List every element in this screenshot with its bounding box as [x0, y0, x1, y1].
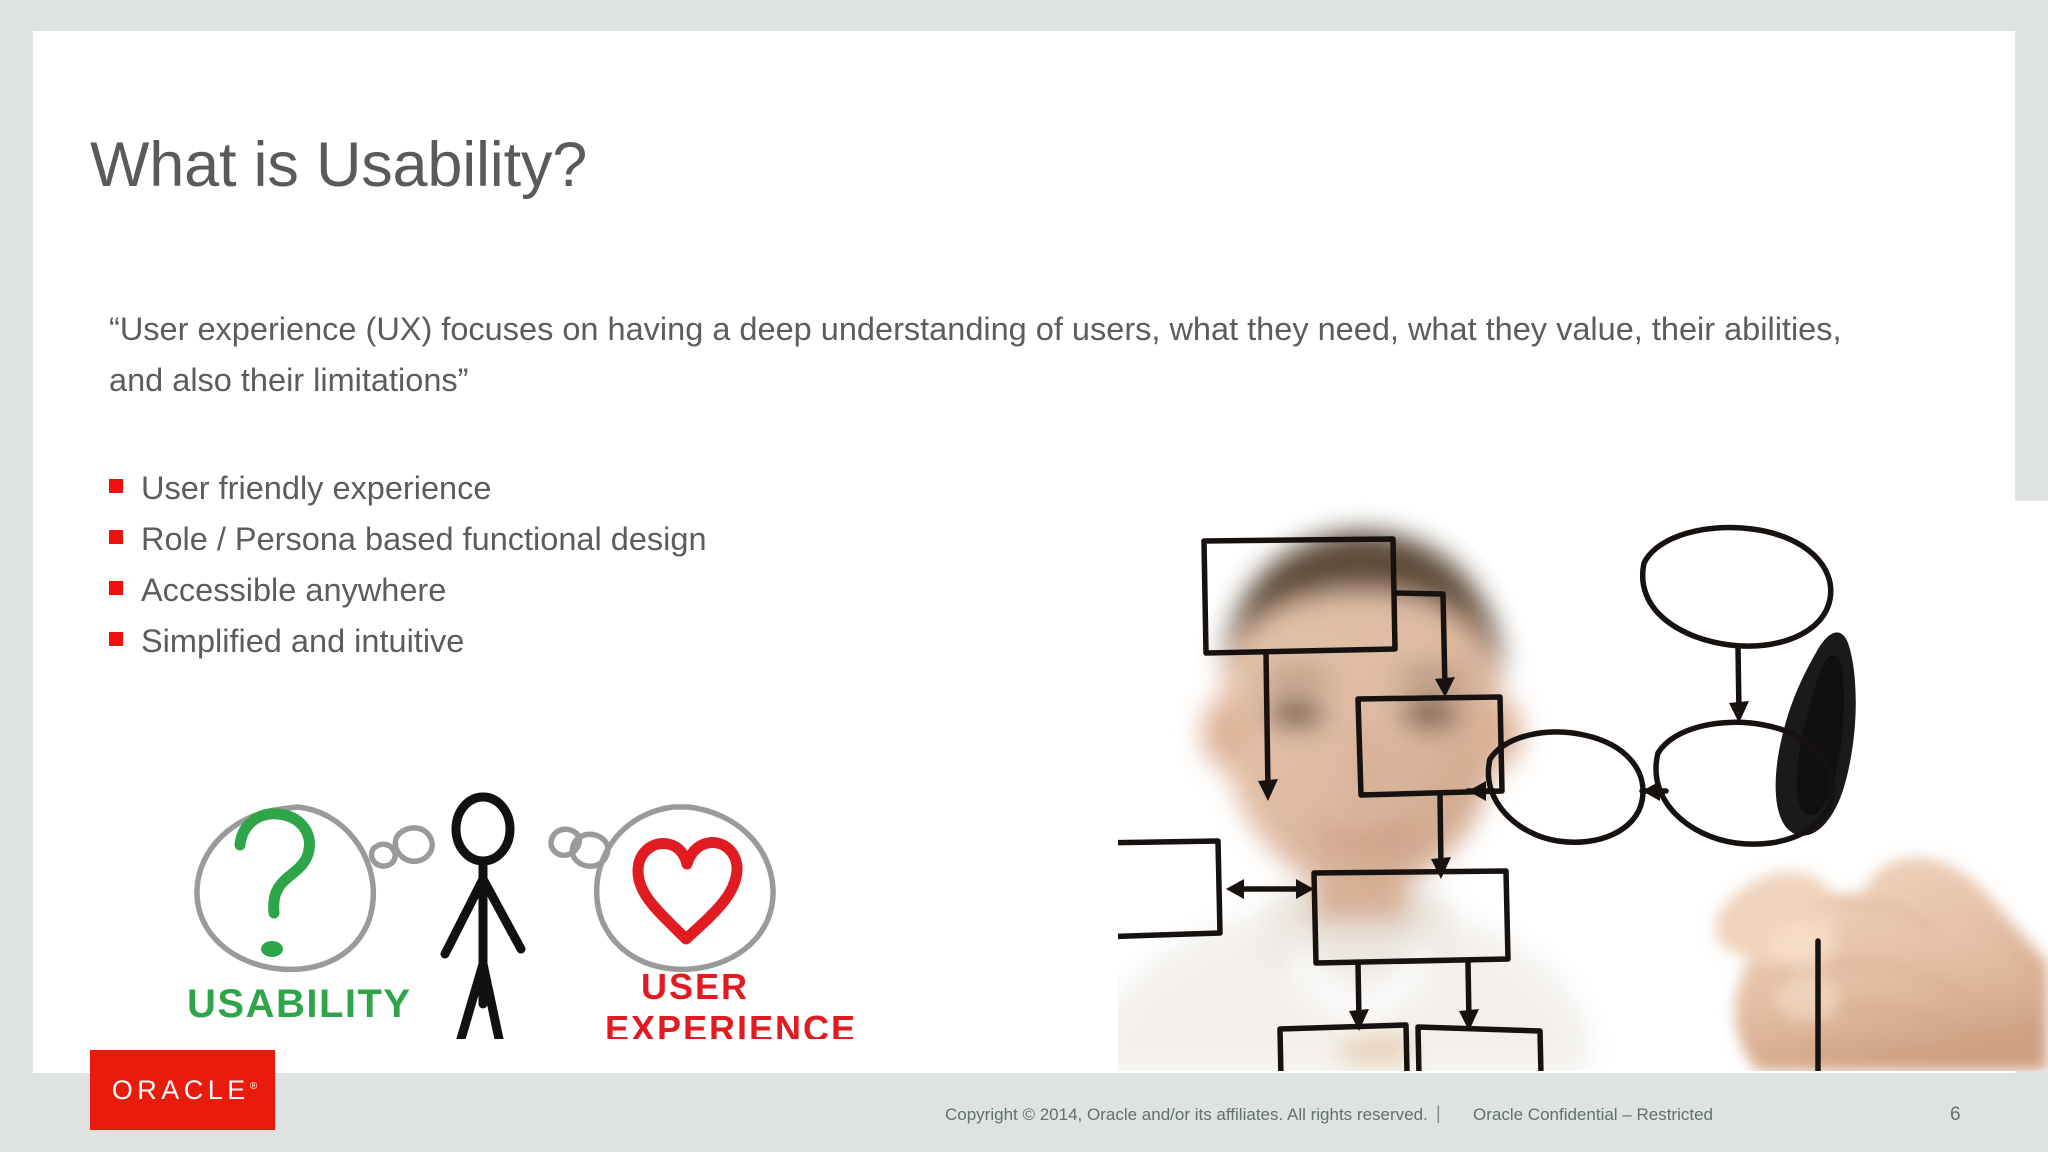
user-experience-label-line1: USER [641, 966, 749, 1007]
flowchart-photo [1118, 501, 2048, 1071]
bullet-square-icon [109, 632, 123, 646]
usability-ux-illustration: USABILITY USER EXPERIENCE [173, 749, 853, 1039]
stick-figure-icon [445, 797, 521, 1039]
user-experience-label-line2: EXPERIENCE [605, 1008, 853, 1039]
connector-b-to-c [1440, 795, 1441, 869]
thought-puff-small-left [372, 844, 396, 866]
list-item: Role / Persona based functional design [109, 514, 707, 565]
oracle-wordmark: ORACLE® [112, 1075, 257, 1106]
usability-label: USABILITY [187, 982, 412, 1026]
oracle-logo: ORACLE® [90, 1050, 275, 1130]
thought-puff-medium-left [395, 828, 432, 861]
list-item-label: Role / Persona based functional design [141, 514, 707, 565]
slide-root: What is Usability? “User experience (UX)… [0, 0, 2048, 1152]
registered-mark-icon: ® [250, 1081, 257, 1092]
left-thought-bubble [197, 807, 373, 969]
footer-page-number: 6 [1950, 1104, 1961, 1126]
bullet-square-icon [109, 581, 123, 595]
quote-text: “User experience (UX) focuses on having … [109, 304, 1849, 406]
footer-copyright: Copyright © 2014, Oracle and/or its affi… [945, 1105, 1428, 1125]
footer-confidentiality: Oracle Confidential – Restricted [1473, 1105, 1713, 1125]
footer-separator: | [1436, 1103, 1441, 1124]
right-thought-bubble [597, 807, 773, 969]
list-item: Accessible anywhere [109, 565, 707, 616]
bullet-square-icon [109, 479, 123, 493]
question-mark-dot [261, 941, 283, 957]
list-item: User friendly experience [109, 463, 707, 514]
page-title: What is Usability? [90, 129, 587, 201]
list-item: Simplified and intuitive [109, 616, 707, 667]
connector-a-to-c [1266, 653, 1268, 791]
heart-icon [638, 843, 737, 939]
bullet-list: User friendly experience Role / Persona … [109, 463, 707, 667]
list-item-label: Accessible anywhere [141, 565, 446, 616]
bullet-square-icon [109, 530, 123, 544]
slide-canvas: What is Usability? “User experience (UX)… [33, 31, 2015, 1073]
question-mark-icon [240, 814, 309, 913]
oracle-wordmark-text: ORACLE [112, 1075, 250, 1105]
list-item-label: Simplified and intuitive [141, 616, 464, 667]
list-item-label: User friendly experience [141, 463, 491, 514]
